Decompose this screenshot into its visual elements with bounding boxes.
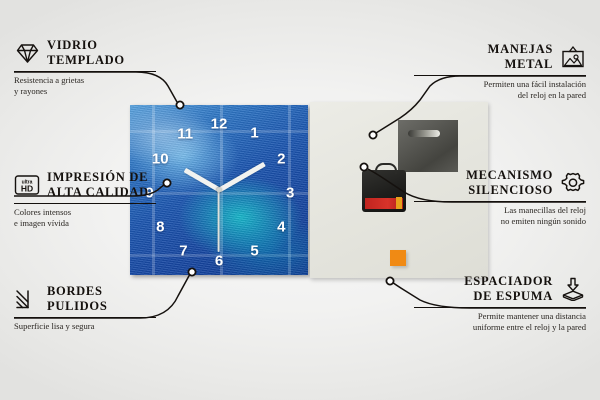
battery-cell [396,197,402,209]
clock-numeral-7: 7 [179,244,187,259]
clock-movement [362,170,406,212]
product-photo-front: 12 1 2 3 4 5 6 7 8 9 10 11 [130,105,308,275]
callout-header: MECANISMO SILENCIOSO [414,168,586,198]
movement-hanging-loop [375,163,397,174]
callout-espaciador-de-espuma: ESPACIADOR DE ESPUMA Permite mantener un… [414,274,586,333]
metal-hanger-plate [398,120,458,172]
callout-divider [414,75,586,77]
callout-mecanismo-silencioso: MECANISMO SILENCIOSO Las manecillas del … [414,168,586,227]
polished-edges-icon [14,287,40,311]
callout-header: MANEJAS METAL [414,42,586,72]
clock-numeral-1: 1 [250,126,258,141]
callout-divider [14,71,156,73]
callout-header: ESPACIADOR DE ESPUMA [414,274,586,304]
callout-title: MECANISMO SILENCIOSO [466,168,553,198]
diamond-icon [14,41,40,65]
foam-spacer-pad [390,250,406,266]
clock-numeral-6: 6 [215,254,223,269]
callout-divider [414,307,586,309]
callout-header: VIDRIO TEMPLADO [14,38,156,68]
clock-numeral-2: 2 [277,152,285,167]
callout-vidrio-templado: VIDRIO TEMPLADO Resistencia a grietas y … [14,38,156,97]
infographic-canvas: 12 1 2 3 4 5 6 7 8 9 10 11 [0,0,600,400]
ultra-hd-icon-bottom: HD [21,183,33,193]
callout-title: BORDES PULIDOS [47,284,107,314]
callout-description: Superficie lisa y segura [14,321,156,332]
callout-description: Permite mantener una distancia uniforme … [414,311,586,333]
clock-numeral-10: 10 [152,152,169,167]
clock-numeral-11: 11 [177,126,193,141]
callout-divider [14,317,156,319]
callout-divider [414,201,586,203]
foam-spacer-icon [560,277,586,301]
callout-bordes-pulidos: BORDES PULIDOS Superficie lisa y segura [14,284,156,332]
clock-numeral-3: 3 [286,186,294,201]
picture-frame-hanger-icon [560,45,586,69]
callout-description: Permiten una fácil instalación del reloj… [414,79,586,101]
clock-numeral-12: 12 [211,116,228,131]
callout-divider [14,203,156,205]
callout-title: MANEJAS METAL [488,42,553,72]
clock-center-pin [217,188,222,193]
callout-description: Las manecillas del reloj no emiten ningú… [414,205,586,227]
callout-manejas-metal: MANEJAS METAL Permiten una fácil instala… [414,42,586,101]
callout-description: Colores intensos e imagen vívida [14,207,156,229]
callout-title: IMPRESIÓN DE ALTA CALIDAD [47,170,149,200]
callout-description: Resistencia a grietas y rayones [14,75,156,97]
ultra-hd-icon: ultra HD [14,173,40,197]
clock-numeral-8: 8 [156,220,164,235]
hanger-slot [408,130,440,137]
callout-impresion-alta-calidad: ultra HD IMPRESIÓN DE ALTA CALIDAD Color… [14,170,156,229]
callout-header: ultra HD IMPRESIÓN DE ALTA CALIDAD [14,170,156,200]
clock-second-hand [218,190,220,252]
gear-icon [560,171,586,195]
callout-header: BORDES PULIDOS [14,284,156,314]
clock-numeral-5: 5 [250,244,258,259]
clock-numeral-4: 4 [277,220,285,235]
endpoint-espaciador [386,277,393,284]
callout-title: ESPACIADOR DE ESPUMA [464,274,553,304]
callout-title: VIDRIO TEMPLADO [47,38,125,68]
